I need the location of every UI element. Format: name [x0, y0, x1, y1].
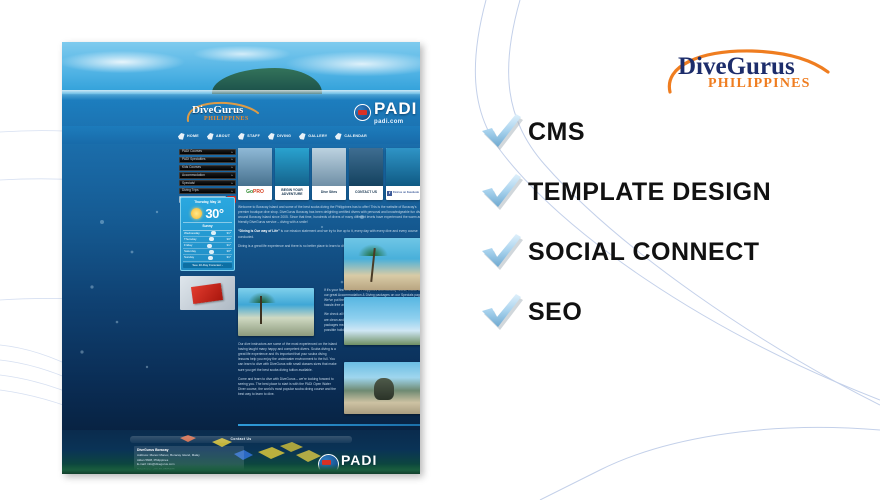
cloud-icon [211, 231, 216, 235]
card-caption: f Find us on Facebook [386, 186, 420, 200]
nav-label: ABOUT [216, 134, 230, 138]
sidebar-item-label: Diving Trips [182, 189, 199, 192]
footer-contact-tab[interactable]: Contact Us [130, 436, 352, 443]
sidebar-item-padi-courses[interactable]: PADI Courses ▸ [179, 149, 236, 155]
fin-icon [206, 132, 214, 140]
boulder [374, 378, 394, 400]
palm-trunk [260, 296, 262, 324]
card-dive-sites[interactable]: Dive Sites [312, 148, 346, 200]
nav-label: DIVING [277, 134, 291, 138]
forecast-temp: 30° [226, 250, 231, 253]
feature-label: SOCIAL CONNECT [528, 240, 760, 265]
card-caption-pro: PRO [253, 190, 264, 196]
promo-book-graphic [191, 283, 223, 304]
card-image [349, 148, 383, 186]
card-image [386, 148, 420, 186]
photo-rock-beach [344, 362, 420, 414]
footer-contact-tab-label: Contact Us [231, 438, 252, 441]
forecast-day: Thursday [184, 238, 197, 241]
check-icon [478, 171, 524, 213]
feature-label: SEO [528, 300, 582, 325]
sidebar-item-label: Specials! [182, 182, 195, 185]
facebook-icon: f [387, 191, 392, 196]
photo-palm-beach [344, 238, 420, 290]
nav-item-calendar[interactable]: CALENDAR [335, 130, 367, 142]
feature-label: CMS [528, 120, 585, 145]
reef-decoration [62, 464, 420, 474]
lower-copy-block: Our dive instructors are some of the mos… [238, 342, 338, 397]
cloud-icon [207, 244, 212, 248]
check-icon [478, 291, 524, 333]
chevron-right-icon: ▸ [231, 151, 233, 154]
site-logo[interactable]: DiveGurus PHILIPPINES [184, 100, 262, 126]
card-contact-us[interactable]: CONTACT US [349, 148, 383, 200]
card-image [312, 148, 346, 186]
padi-wordmark: PADI [374, 99, 417, 118]
sidebar-item-kids-courses[interactable]: Kids Courses ▸ [179, 165, 236, 171]
check-icon [478, 111, 524, 153]
forecast-day: Sunday [184, 256, 194, 259]
forecast-temp: 31° [226, 244, 231, 247]
feature-label: TEMPLATE DESIGN [528, 180, 771, 205]
cloud-icon [209, 250, 214, 254]
card-facebook[interactable]: f Find us on Facebook [386, 148, 420, 200]
nav-item-staff[interactable]: STAFF [238, 130, 260, 142]
fin-icon [335, 132, 343, 140]
fin-icon [238, 132, 246, 140]
nav-label: STAFF [247, 134, 260, 138]
sidebar-item-padi-specialties[interactable]: PADI Specialties ▸ [179, 157, 236, 163]
chevron-right-icon: ▸ [231, 158, 233, 161]
forecast-day: Wednesday [184, 232, 200, 235]
forecast-day: Friday [184, 244, 192, 247]
card-caption-go: Go [246, 190, 253, 196]
forecast-temp: 31° [226, 232, 231, 235]
fin-icon [267, 132, 275, 140]
forecast-row: Sunday 31° [183, 255, 232, 261]
chevron-right-icon: ▸ [231, 182, 233, 185]
sidebar-item-specials[interactable]: Specials! ▸ [179, 180, 236, 186]
padi-disc-icon [354, 104, 371, 121]
slide-canvas: DiveGurus PHILIPPINES CMS [0, 0, 880, 500]
feature-list: CMS TEMPLATE DESIGN SOCIAL CONNECT [478, 102, 878, 342]
card-caption: Dive Sites [312, 186, 346, 200]
fin-icon [177, 132, 185, 140]
weather-current: 30° [183, 204, 232, 222]
sidebar-menu: PADI Courses ▸ PADI Specialties ▸ Kids C… [179, 149, 236, 203]
paragraph-5: Our dive instructors are some of the mos… [238, 342, 338, 373]
feature-item-cms: CMS [478, 102, 878, 162]
feature-item-social-connect: SOCIAL CONNECT [478, 222, 878, 282]
card-image [275, 148, 309, 186]
card-go-pro[interactable]: GoPRO [238, 148, 272, 200]
weather-widget: Thursday, May 16 30° Sunny Wednesday 31°… [180, 197, 235, 271]
card-caption-text: Find us on Facebook [393, 192, 419, 195]
forecast-temp: 30° [226, 238, 231, 241]
chevron-right-icon: ▸ [231, 190, 233, 193]
lead-quote: “Diving is Our way of Life” [238, 229, 280, 233]
forecast-day: Saturday [184, 250, 196, 253]
forecast-temp: 31° [226, 256, 231, 259]
card-begin-your-adventure[interactable]: BEGIN YOUR ADVENTURE [275, 148, 309, 200]
website-screenshot-preview: DiveGurus PHILIPPINES PADI padi.com HOME… [62, 42, 420, 474]
feature-item-template-design: TEMPLATE DESIGN [478, 162, 878, 222]
site-logo-subtitle: PHILIPPINES [204, 116, 249, 122]
sidebar-item-label: PADI Specialties [182, 158, 206, 161]
ten-day-forecast-link[interactable]: See 10-Day Forecast › [183, 263, 232, 268]
chevron-right-icon: ▸ [231, 166, 233, 169]
intro-paragraph: Welcome to Boracay Island and some of th… [238, 205, 420, 225]
check-icon [478, 231, 524, 273]
nav-label: HOME [187, 134, 199, 138]
nav-item-about[interactable]: ABOUT [207, 130, 230, 142]
sidebar-item-diving-trips[interactable]: Diving Trips ▸ [179, 188, 236, 194]
promo-banner[interactable] [180, 276, 235, 310]
sidebar-item-label: Kids Courses [182, 166, 201, 169]
cloud-icon [209, 237, 214, 241]
brand-logo: DiveGurus PHILIPPINES [660, 48, 840, 100]
sidebar-item-label: Accommodation [182, 174, 205, 177]
nav-label: GALLERY [308, 134, 327, 138]
sun-small-icon [208, 256, 213, 260]
card-image [238, 148, 272, 186]
card-caption: BEGIN YOUR ADVENTURE [275, 186, 309, 200]
section-divider [238, 424, 420, 426]
weather-condition: Sunny [183, 222, 232, 230]
photo-beach-hut [238, 288, 314, 336]
feature-card-strip: GoPRO BEGIN YOUR ADVENTURE Dive Sites CO… [238, 148, 420, 200]
site-logo-name: DiveGurus [192, 105, 243, 116]
nav-item-diving[interactable]: DIVING [268, 130, 291, 142]
sidebar-item-label: PADI Courses [182, 150, 202, 153]
feature-item-seo: SEO [478, 282, 878, 342]
palm-frond [248, 292, 276, 303]
weather-temperature: 30° [205, 207, 223, 220]
nav-item-gallery[interactable]: GALLERY [299, 130, 327, 142]
site-navigation: HOME ABOUT STAFF DIVING GALLERY CALENDAR [178, 130, 408, 142]
sidebar-item-accommodation[interactable]: Accommodation ▸ [179, 172, 236, 178]
waterline [62, 90, 420, 100]
site-footer: Contact Us DiveGurus Boracay Address: Ma… [62, 430, 420, 474]
chevron-right-icon: ▸ [231, 174, 233, 177]
card-caption: GoPRO [238, 186, 272, 200]
fin-icon [299, 132, 307, 140]
paragraph-6: Come and learn to dive with DiveGurus – … [238, 377, 338, 397]
padi-header-logo[interactable]: PADI padi.com [354, 100, 420, 130]
card-caption: CONTACT US [349, 186, 383, 200]
nav-label: CALENDAR [344, 134, 367, 138]
brand-subtitle: PHILIPPINES [708, 77, 811, 91]
nav-item-home[interactable]: HOME [178, 130, 199, 142]
sun-icon [191, 208, 202, 219]
padi-url: padi.com [374, 119, 417, 125]
photo-sky-clouds [344, 297, 420, 345]
